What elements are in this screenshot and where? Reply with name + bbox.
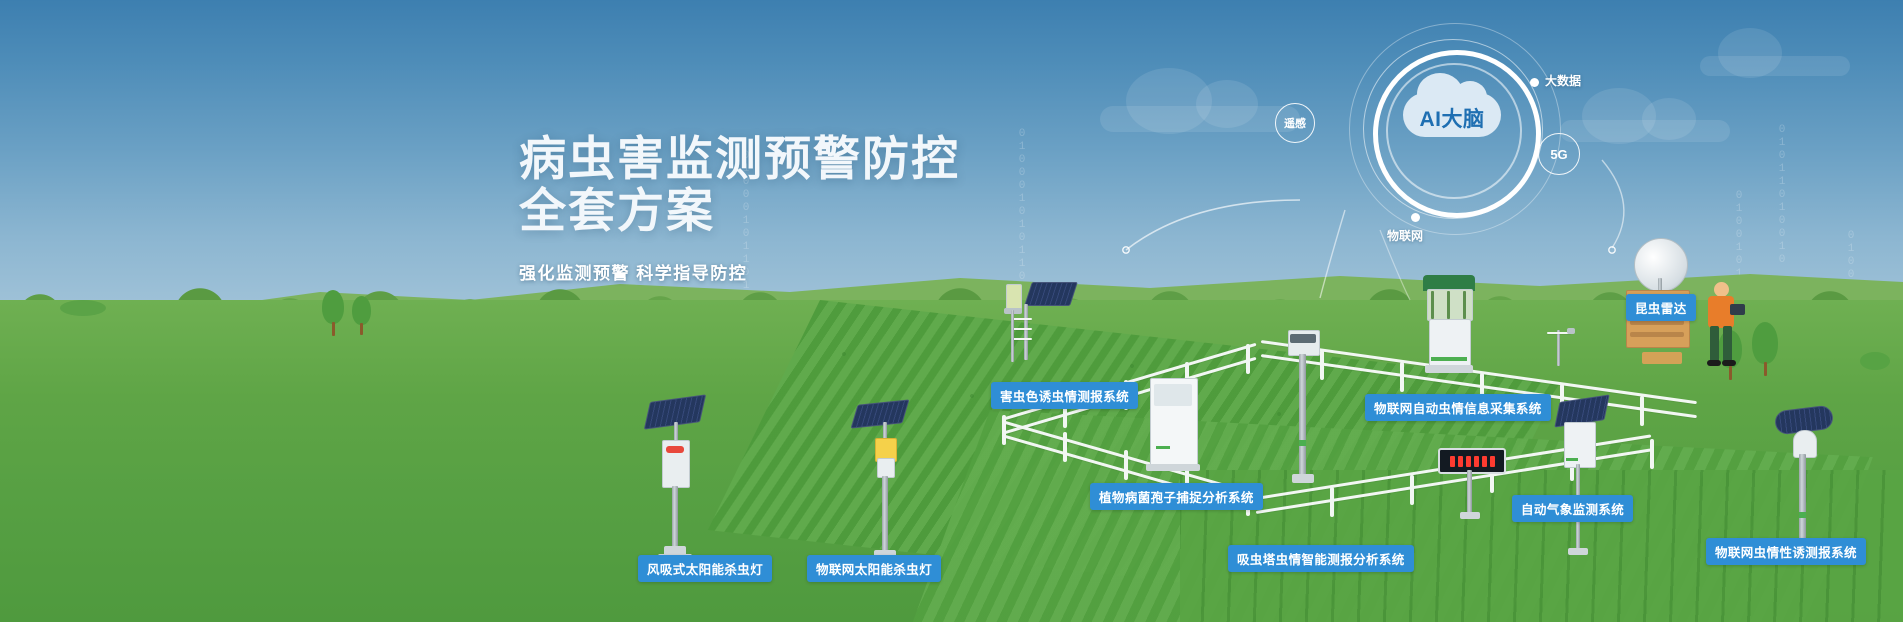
node-5g-label: 5G xyxy=(1550,147,1567,162)
label-insect-radar[interactable]: 昆虫雷达 xyxy=(1626,294,1696,321)
label-iot-auto-collect[interactable]: 物联网自动虫情信息采集系统 xyxy=(1365,394,1551,421)
node-5g[interactable]: 5G xyxy=(1538,133,1580,175)
hero-banner: 01000101101 010001010110 0100101101 0101… xyxy=(0,0,1903,622)
label-wind-solar-lamp[interactable]: 风吸式太阳能杀虫灯 xyxy=(638,555,772,582)
binary-decoration: 01011010010 xyxy=(1776,124,1788,267)
node-bigdata-label: 大数据 xyxy=(1545,72,1581,89)
node-remote-sensing[interactable]: 遥感 xyxy=(1275,103,1315,143)
label-iot-solar-lamp[interactable]: 物联网太阳能杀虫灯 xyxy=(807,555,941,582)
node-bigdata-dot xyxy=(1530,78,1539,87)
cloud-decoration xyxy=(1700,56,1850,76)
ai-hub: AI大脑 遥感 5G 大数据 物联网 xyxy=(1345,35,1605,220)
bush xyxy=(60,300,106,316)
soil-plot xyxy=(1642,352,1682,364)
node-iot-label: 物联网 xyxy=(1387,227,1423,244)
label-spore-capture[interactable]: 植物病菌孢子捕捉分析系统 xyxy=(1090,483,1263,510)
ai-brain-label: AI大脑 xyxy=(1401,103,1503,133)
label-iot-pheromone[interactable]: 物联网虫情性诱测报系统 xyxy=(1706,538,1866,565)
hero-text-block: 病虫害监测预警防控 全套方案 强化监测预警 科学指导防控 xyxy=(519,133,960,284)
node-iot-dot xyxy=(1411,213,1420,222)
label-suction-tower[interactable]: 吸虫塔虫情智能测报分析系统 xyxy=(1228,545,1414,572)
bush xyxy=(1860,352,1890,370)
label-color-trap[interactable]: 害虫色诱虫情测报系统 xyxy=(991,382,1138,409)
node-remote-sensing-label: 遥感 xyxy=(1284,115,1306,131)
label-weather-station[interactable]: 自动气象监测系统 xyxy=(1512,495,1633,522)
binary-decoration: 010001010110 xyxy=(1016,128,1028,284)
page-title-line2: 全套方案 xyxy=(519,185,960,237)
page-subtitle: 强化监测预警 科学指导防控 xyxy=(519,259,960,284)
cloud-decoration xyxy=(1100,106,1300,132)
page-title-line1: 病虫害监测预警防控 xyxy=(519,133,960,185)
